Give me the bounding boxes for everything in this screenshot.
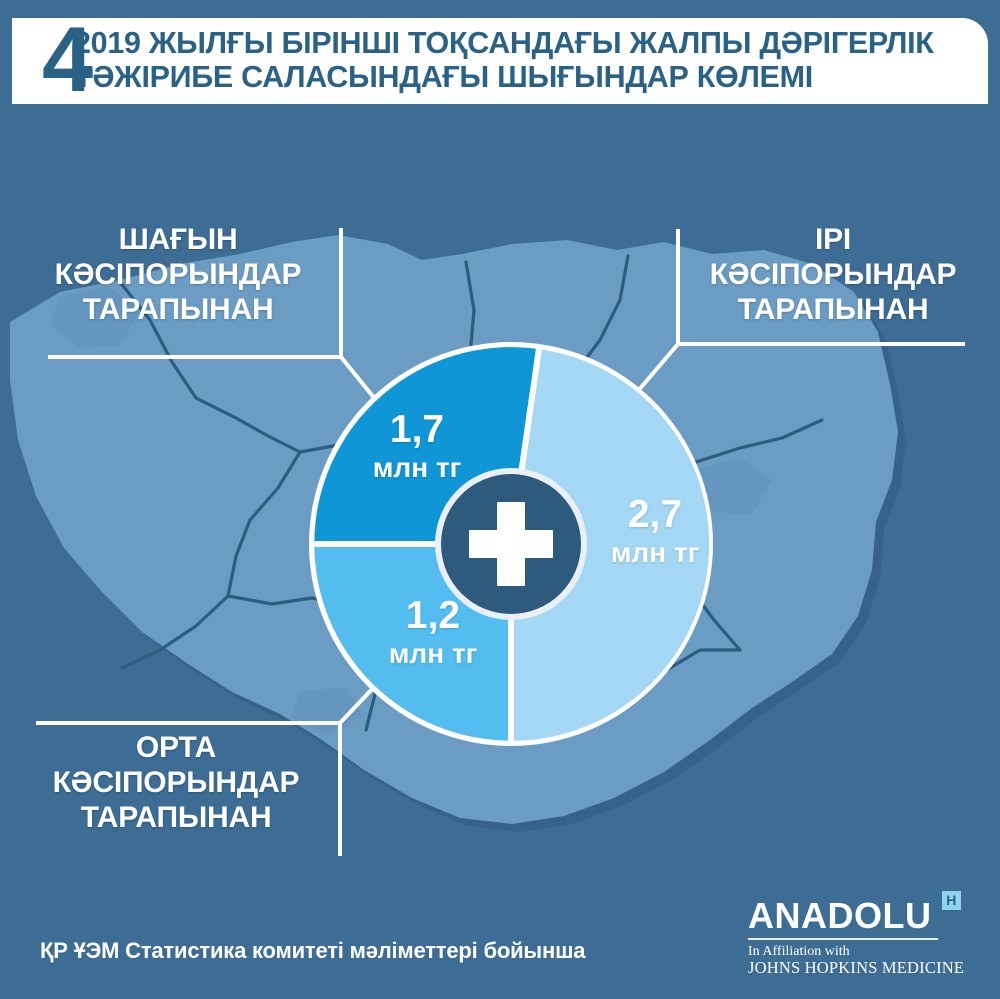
page-title: 2019 ЖЫЛҒЫ БІРІНШІ ТОҚСАНДАҒЫ ЖАЛПЫ ДӘРІ… — [74, 26, 974, 94]
unit-medium-enterprises: млн тг — [368, 639, 498, 668]
unit-small-enterprises: млн тг — [352, 453, 482, 482]
anadolu-logo: ANADOLU H In Affiliation with JOHNS HOPK… — [748, 897, 960, 977]
callout-label-small-enterprises: ШАҒЫН КӘСІПОРЫНДАР ТАРАПЫНАН — [18, 222, 338, 327]
callout-small-line-2: КӘСІПОРЫНДАР — [18, 257, 338, 292]
logo-divider — [748, 938, 938, 940]
page-title-line-2: ТӘЖІРИБЕ САЛАСЫНДАҒЫ ШЫҒЫНДАР КӨЛЕМІ — [74, 60, 974, 94]
infographic-page: 4 2019 ЖЫЛҒЫ БІРІНШІ ТОҚСАНДАҒЫ ЖАЛПЫ ДӘ… — [0, 0, 1000, 999]
callout-small-line-3: ТАРАПЫНАН — [18, 292, 338, 327]
value-label-medium-enterprises: 1,2 млн тг — [368, 596, 498, 668]
value-label-large-enterprises: 2,7 млн тг — [585, 495, 725, 567]
value-medium-enterprises: 1,2 — [368, 596, 498, 637]
callout-large-line-3: ТАРАПЫНАН — [682, 292, 984, 327]
callout-medium-line-1: ОРТА — [14, 730, 338, 765]
value-label-small-enterprises: 1,7 млн тг — [352, 410, 482, 482]
value-small-enterprises: 1,7 — [352, 410, 482, 451]
callout-label-large-enterprises: ІРІ КӘСІПОРЫНДАР ТАРАПЫНАН — [682, 222, 984, 327]
logo-wordmark: ANADOLU H — [748, 897, 960, 935]
logo-wordmark-text: ANADOLU — [748, 895, 931, 936]
callout-large-line-1: ІРІ — [682, 222, 984, 257]
title-bar: 4 2019 ЖЫЛҒЫ БІРІНШІ ТОҚСАНДАҒЫ ЖАЛПЫ ДӘ… — [12, 18, 988, 104]
callout-large-line-2: КӘСІПОРЫНДАР — [682, 257, 984, 292]
page-title-line-1: 2019 ЖЫЛҒЫ БІРІНШІ ТОҚСАНДАҒЫ ЖАЛПЫ ДӘРІ… — [74, 26, 974, 60]
logo-affiliation-line-2: JOHNS HOPKINS MEDICINE — [748, 959, 960, 977]
callout-medium-line-2: КӘСІПОРЫНДАР — [14, 765, 338, 800]
unit-large-enterprises: млн тг — [585, 538, 725, 567]
value-large-enterprises: 2,7 — [585, 495, 725, 536]
logo-affiliation-line-1: In Affiliation with — [748, 944, 960, 959]
callout-medium-line-3: ТАРАПЫНАН — [14, 800, 338, 835]
logo-h-badge-icon: H — [942, 891, 961, 910]
callout-label-medium-enterprises: ОРТА КӘСІПОРЫНДАР ТАРАПЫНАН — [14, 730, 338, 835]
source-note: ҚР ҰЭМ Статистика комитеті мәліметтері б… — [40, 938, 585, 964]
callout-small-line-1: ШАҒЫН — [18, 222, 338, 257]
